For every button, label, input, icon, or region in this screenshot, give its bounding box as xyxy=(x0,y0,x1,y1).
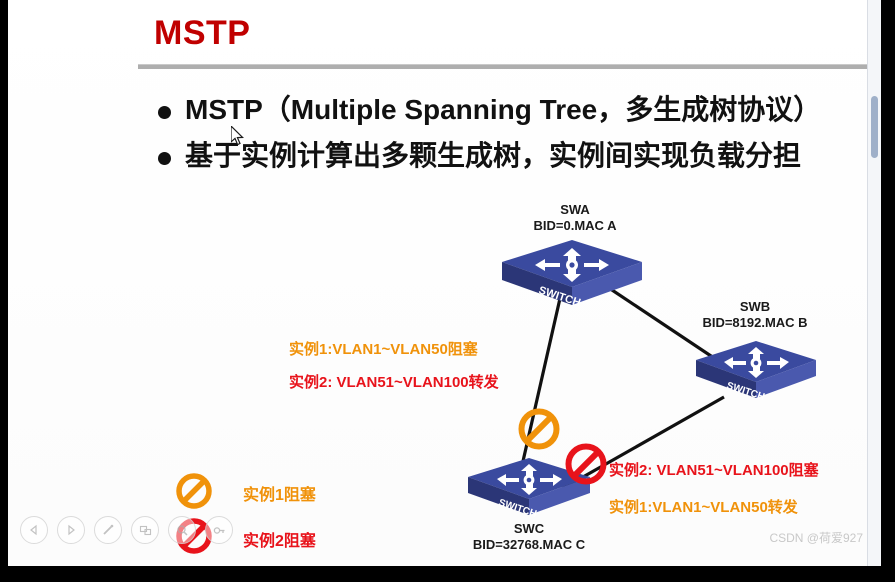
page-title: MSTP xyxy=(154,14,250,53)
bullet-text: MSTP（Multiple Spanning Tree，多生成树协议） xyxy=(185,92,821,128)
bullet-text: 基于实例计算出多颗生成树，实例间实现负载分担 xyxy=(185,138,801,174)
next-icon[interactable] xyxy=(57,516,85,544)
key-icon[interactable] xyxy=(205,516,233,544)
list-item: 基于实例计算出多颗生成树，实例间实现负载分担 xyxy=(158,138,878,174)
title-divider xyxy=(138,64,876,69)
magnifier-icon[interactable] xyxy=(168,516,196,544)
scrollbar-thumb[interactable] xyxy=(871,96,878,158)
bullet-list: MSTP（Multiple Spanning Tree，多生成树协议） 基于实例… xyxy=(158,92,878,184)
slide-canvas: MSTP MSTP（Multiple Spanning Tree，多生成树协议）… xyxy=(8,0,881,566)
mouse-cursor-icon xyxy=(231,126,245,146)
left-letterbox xyxy=(0,0,8,582)
pen-icon[interactable] xyxy=(94,516,122,544)
bottom-letterbox xyxy=(0,566,895,582)
bullet-dot-icon xyxy=(158,106,171,119)
screen: MSTP MSTP（Multiple Spanning Tree，多生成树协议）… xyxy=(0,0,895,582)
right-letterbox xyxy=(881,0,895,582)
previous-icon[interactable] xyxy=(20,516,48,544)
slide-background xyxy=(8,0,881,566)
bullet-dot-icon xyxy=(158,152,171,165)
list-item: MSTP（Multiple Spanning Tree，多生成树协议） xyxy=(158,92,878,128)
watermark: CSDN @荷爱927 xyxy=(769,529,863,546)
vertical-scrollbar[interactable] xyxy=(867,0,881,566)
viewer-toolbar[interactable] xyxy=(20,516,233,544)
slides-icon[interactable] xyxy=(131,516,159,544)
